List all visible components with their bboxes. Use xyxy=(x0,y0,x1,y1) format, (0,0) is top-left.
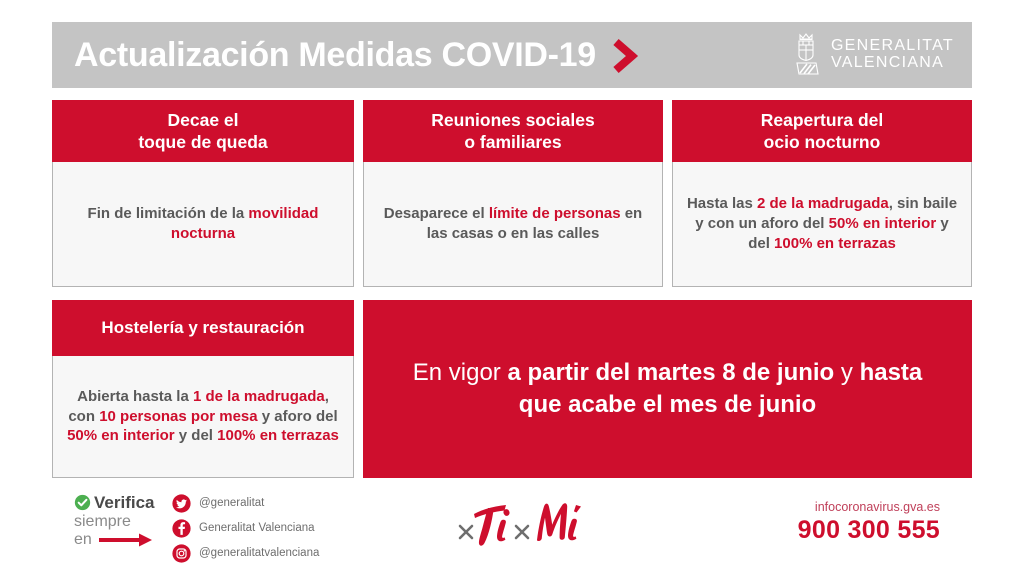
covid-measures-infographic: Actualización Medidas COVID-19 xyxy=(0,0,1024,576)
card-hospitality-header: Hostelería y restauración xyxy=(52,300,354,356)
arrow-right-icon xyxy=(97,532,153,548)
card-curfew-header: Decae el toque de queda xyxy=(52,100,354,162)
footer: Verifica siempre en @generalitat xyxy=(0,488,1024,576)
effective-dates-panel: En vigor a partir del martes 8 de junio … xyxy=(363,300,972,478)
effect-prefix: En vigor xyxy=(413,359,508,386)
card-gatherings-head-line2: o familiares xyxy=(464,132,561,152)
generalitat-logo: GENERALITAT VALENCIANA xyxy=(792,33,954,77)
card-gatherings-text-hl-1: límite de personas xyxy=(489,205,621,222)
card-nightlife-header: Reapertura del ocio nocturno xyxy=(672,100,972,162)
card-nightlife-body: Hasta las 2 de la madrugada, sin baile y… xyxy=(672,162,972,287)
card-hospitality-text-hl-4: 100% en terrazas xyxy=(217,427,339,444)
card-gatherings-body: Desaparece el límite de personas en las … xyxy=(363,162,663,287)
green-check-icon xyxy=(74,494,91,511)
social-row-twitter[interactable]: @generalitat xyxy=(172,494,319,513)
card-gatherings: Reuniones sociales o familiares Desapare… xyxy=(363,100,663,287)
page-title: Actualización Medidas COVID-19 xyxy=(74,38,596,72)
verify-label: Verifica xyxy=(94,494,155,511)
logo-text-line2: VALENCIANA xyxy=(831,55,954,72)
card-curfew-body: Fin de limitación de la movilidad noctur… xyxy=(52,162,354,287)
card-hospitality-text-plain-4: y del xyxy=(175,427,218,444)
card-hospitality-text-hl-3: 50% en interior xyxy=(67,427,175,444)
social-row-instagram[interactable]: @generalitatvalenciana xyxy=(172,544,319,563)
card-nightlife-text-hl-2: 50% en interior xyxy=(829,215,937,232)
effect-bold-start: a partir del martes 8 de junio xyxy=(507,359,834,386)
contact-block: infocoronavirus.gva.es 900 300 555 xyxy=(798,500,940,544)
card-nightlife-text-hl-3: 100% en terrazas xyxy=(774,235,896,252)
twitter-handle[interactable]: @generalitat xyxy=(199,498,264,510)
facebook-icon xyxy=(172,519,191,538)
card-nightlife-text-plain-1: Hasta las xyxy=(687,195,757,212)
card-nightlife-head-line2: ocio nocturno xyxy=(764,132,881,152)
card-curfew-text-plain-1: Fin de limitación de la xyxy=(88,205,249,222)
card-curfew: Decae el toque de queda Fin de limitació… xyxy=(52,100,354,287)
card-hospitality: Hostelería y restauración Abierta hasta … xyxy=(52,300,354,478)
facebook-handle[interactable]: Generalitat Valenciana xyxy=(199,523,315,535)
header-banner: Actualización Medidas COVID-19 xyxy=(52,22,972,88)
card-gatherings-header: Reuniones sociales o familiares xyxy=(363,100,663,162)
card-hospitality-text-hl-1: 1 de la madrugada xyxy=(193,388,325,405)
chevron-right-icon xyxy=(610,36,640,76)
card-hospitality-text-plain-1: Abierta hasta la xyxy=(77,388,193,405)
card-hospitality-text-hl-2: 10 personas por mesa xyxy=(99,408,257,425)
social-row-facebook[interactable]: Generalitat Valenciana xyxy=(172,519,319,538)
card-hospitality-head-line1: Hostelería y restauración xyxy=(101,317,304,338)
card-gatherings-text-plain-1: Desaparece el xyxy=(384,205,489,222)
card-hospitality-body: Abierta hasta la 1 de la madrugada, con … xyxy=(52,356,354,478)
instagram-handle[interactable]: @generalitatvalenciana xyxy=(199,548,319,560)
verify-line3: en xyxy=(74,532,92,548)
card-curfew-head-line2: toque de queda xyxy=(138,132,267,152)
card-hospitality-text-plain-3: y aforo del xyxy=(258,408,338,425)
card-gatherings-head-line1: Reuniones sociales xyxy=(431,110,594,130)
card-nightlife: Reapertura del ocio nocturno Hasta las 2… xyxy=(672,100,972,287)
card-curfew-head-line1: Decae el xyxy=(167,110,238,130)
contact-phone[interactable]: 900 300 555 xyxy=(798,516,940,544)
effect-middle: y xyxy=(834,359,859,386)
logo-text-line1: GENERALITAT xyxy=(831,38,954,55)
contact-website[interactable]: infocoronavirus.gva.es xyxy=(798,500,940,515)
twitter-icon xyxy=(172,494,191,513)
x-ti-x-mi-logo xyxy=(455,492,605,554)
card-nightlife-text-hl-1: 2 de la madrugada xyxy=(757,195,889,212)
instagram-icon xyxy=(172,544,191,563)
social-links: @generalitat Generalitat Valenciana @gen… xyxy=(172,494,319,563)
card-nightlife-head-line1: Reapertura del xyxy=(761,110,884,130)
generalitat-crest-icon xyxy=(792,33,822,77)
